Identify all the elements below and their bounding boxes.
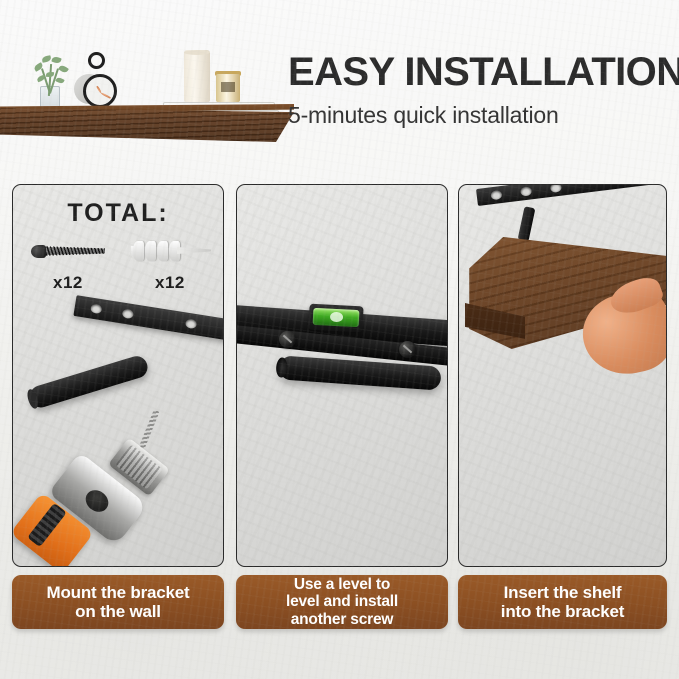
hero-section: EASY INSTALLATION 5-minutes quick instal…: [0, 0, 679, 175]
caption-step-2: Use a level to level and install another…: [236, 575, 448, 629]
step-1-image-panel: TOTAL: x12 x12: [12, 184, 224, 567]
caption-line: Mount the bracket: [46, 583, 189, 602]
installed-screw: [279, 331, 296, 348]
screw-quantity: x12: [53, 273, 83, 293]
screw-icon: [31, 243, 117, 259]
clock-face: [83, 74, 117, 108]
caption-bar-row: Mount the bracket on the wall Use a leve…: [0, 575, 679, 633]
caption-line: another screw: [291, 611, 394, 628]
caption-line: level and install: [286, 593, 398, 610]
step-2-image-panel: [236, 184, 448, 567]
step-3-image-panel: [458, 184, 667, 567]
caption-line: Insert the shelf: [504, 583, 622, 602]
caption-line: on the wall: [75, 602, 161, 621]
styled-shelf-photo: [0, 22, 294, 152]
page-subtitle: 5-minutes quick installation: [288, 102, 676, 129]
shelf-slat-texture: [0, 108, 294, 142]
caption-step-3: Insert the shelf into the bracket: [458, 575, 667, 629]
installed-screw: [399, 341, 416, 358]
level-bubble: [330, 312, 344, 323]
pillar-candle-decor: [184, 50, 210, 102]
clock-bell-ring: [88, 52, 105, 69]
hero-text-block: EASY INSTALLATION 5-minutes quick instal…: [288, 52, 676, 129]
bracket-wall-plate: [476, 184, 667, 206]
page-title: EASY INSTALLATION: [288, 52, 676, 92]
anchor-quantity: x12: [155, 273, 185, 293]
caption-step-1: Mount the bracket on the wall: [12, 575, 224, 629]
steps-panel-row: TOTAL: x12 x12: [0, 184, 679, 569]
caption-line: Use a level to: [294, 576, 390, 593]
alarm-clock-decor: [74, 52, 120, 110]
infographic-page: EASY INSTALLATION 5-minutes quick instal…: [0, 0, 679, 679]
level-vial: [313, 308, 360, 327]
potted-plant-decor: [28, 54, 72, 110]
caption-line: into the bracket: [501, 602, 624, 621]
total-label: TOTAL:: [13, 199, 223, 228]
candle-jar-decor: [216, 74, 240, 102]
power-drill: [13, 395, 193, 555]
hardware-row: [13, 233, 223, 279]
bracket-wall-plate: [73, 295, 224, 341]
wall-anchor-icon: [131, 241, 211, 261]
bubble-level-housing: [308, 304, 363, 333]
bracket-support-rod: [518, 206, 536, 242]
